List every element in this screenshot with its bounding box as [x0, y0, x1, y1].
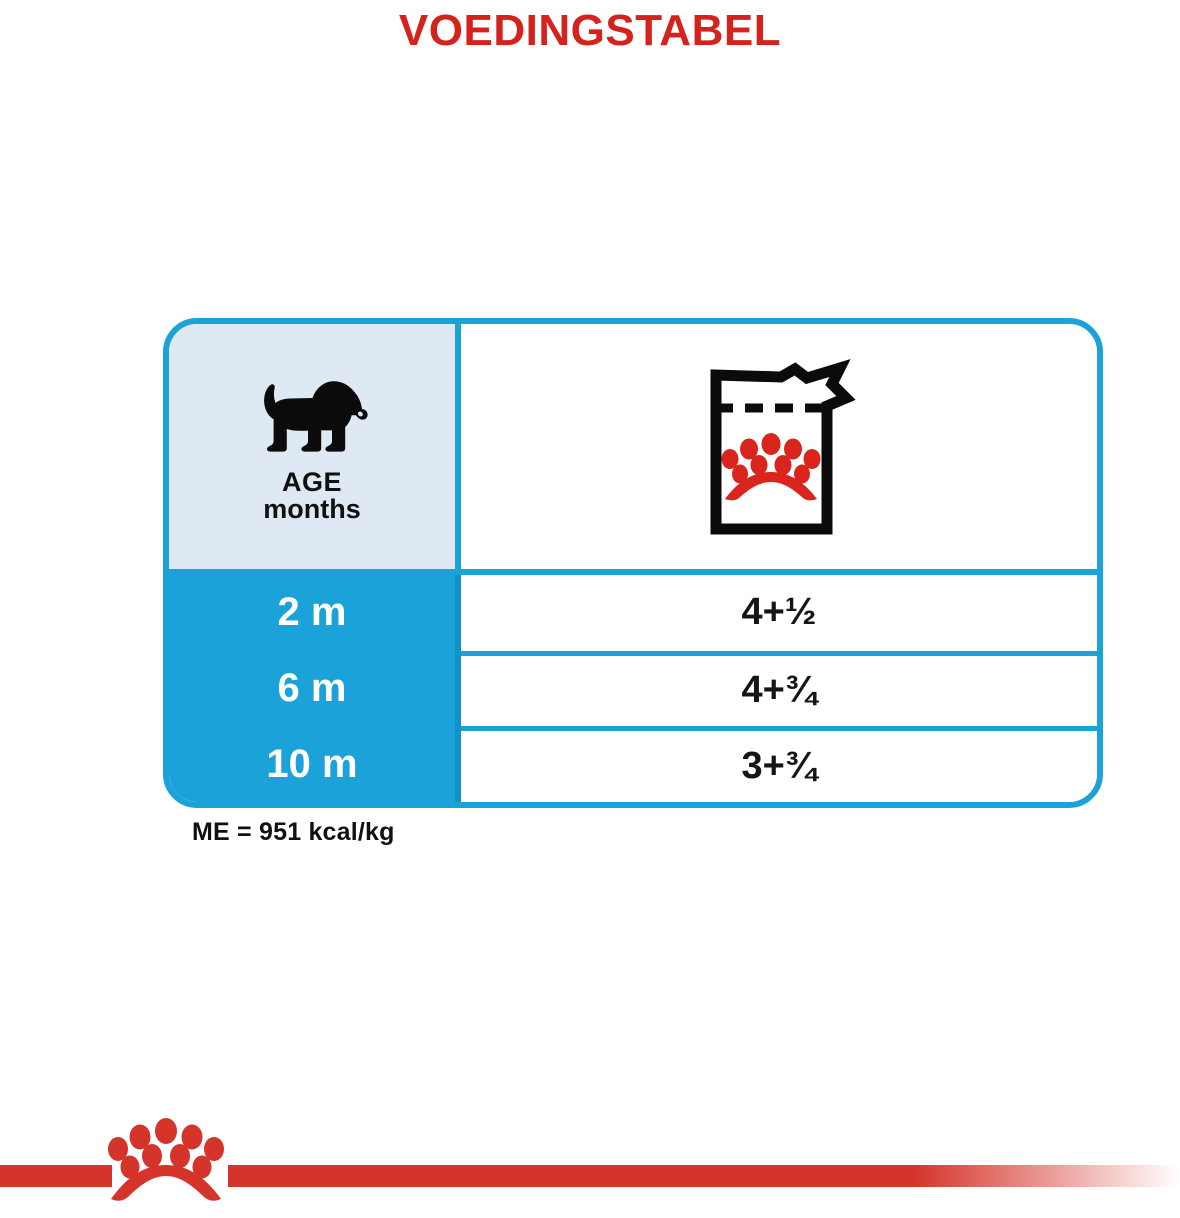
table-row: 6 m 4+¾: [169, 651, 1097, 727]
brand-bar-right-segment: [228, 1165, 1180, 1187]
cell-age: 6 m: [169, 651, 461, 727]
metabolisable-energy-note: ME = 951 kcal/kg: [192, 818, 395, 847]
header-cell-age: AGE months: [169, 324, 461, 575]
feeding-table: AGE months: [163, 318, 1103, 808]
cell-amount: 3+¾: [461, 726, 1097, 802]
header-age-label: AGE months: [263, 469, 361, 524]
puppy-icon: [256, 379, 368, 453]
header-age-line2: months: [263, 496, 361, 524]
page-title: VOEDINGSTABEL: [0, 2, 1180, 60]
cell-age: 10 m: [169, 726, 461, 802]
cell-amount: 4+¾: [461, 651, 1097, 727]
header-age-line1: AGE: [263, 469, 361, 497]
header-cell-amount: [461, 324, 1097, 575]
pouch-icon: [699, 351, 859, 541]
table-row: 10 m 3+¾: [169, 726, 1097, 802]
table-row: 2 m 4+½: [169, 575, 1097, 651]
cell-age: 2 m: [169, 575, 461, 651]
cell-amount: 4+½: [461, 575, 1097, 651]
royal-canin-crown-logo-icon: [96, 1113, 236, 1213]
crown-mark: [722, 433, 821, 500]
feeding-table-wrapper: AGE months: [163, 318, 1103, 808]
brand-bar: [0, 1165, 1180, 1187]
table-header-row: AGE months: [169, 324, 1097, 575]
